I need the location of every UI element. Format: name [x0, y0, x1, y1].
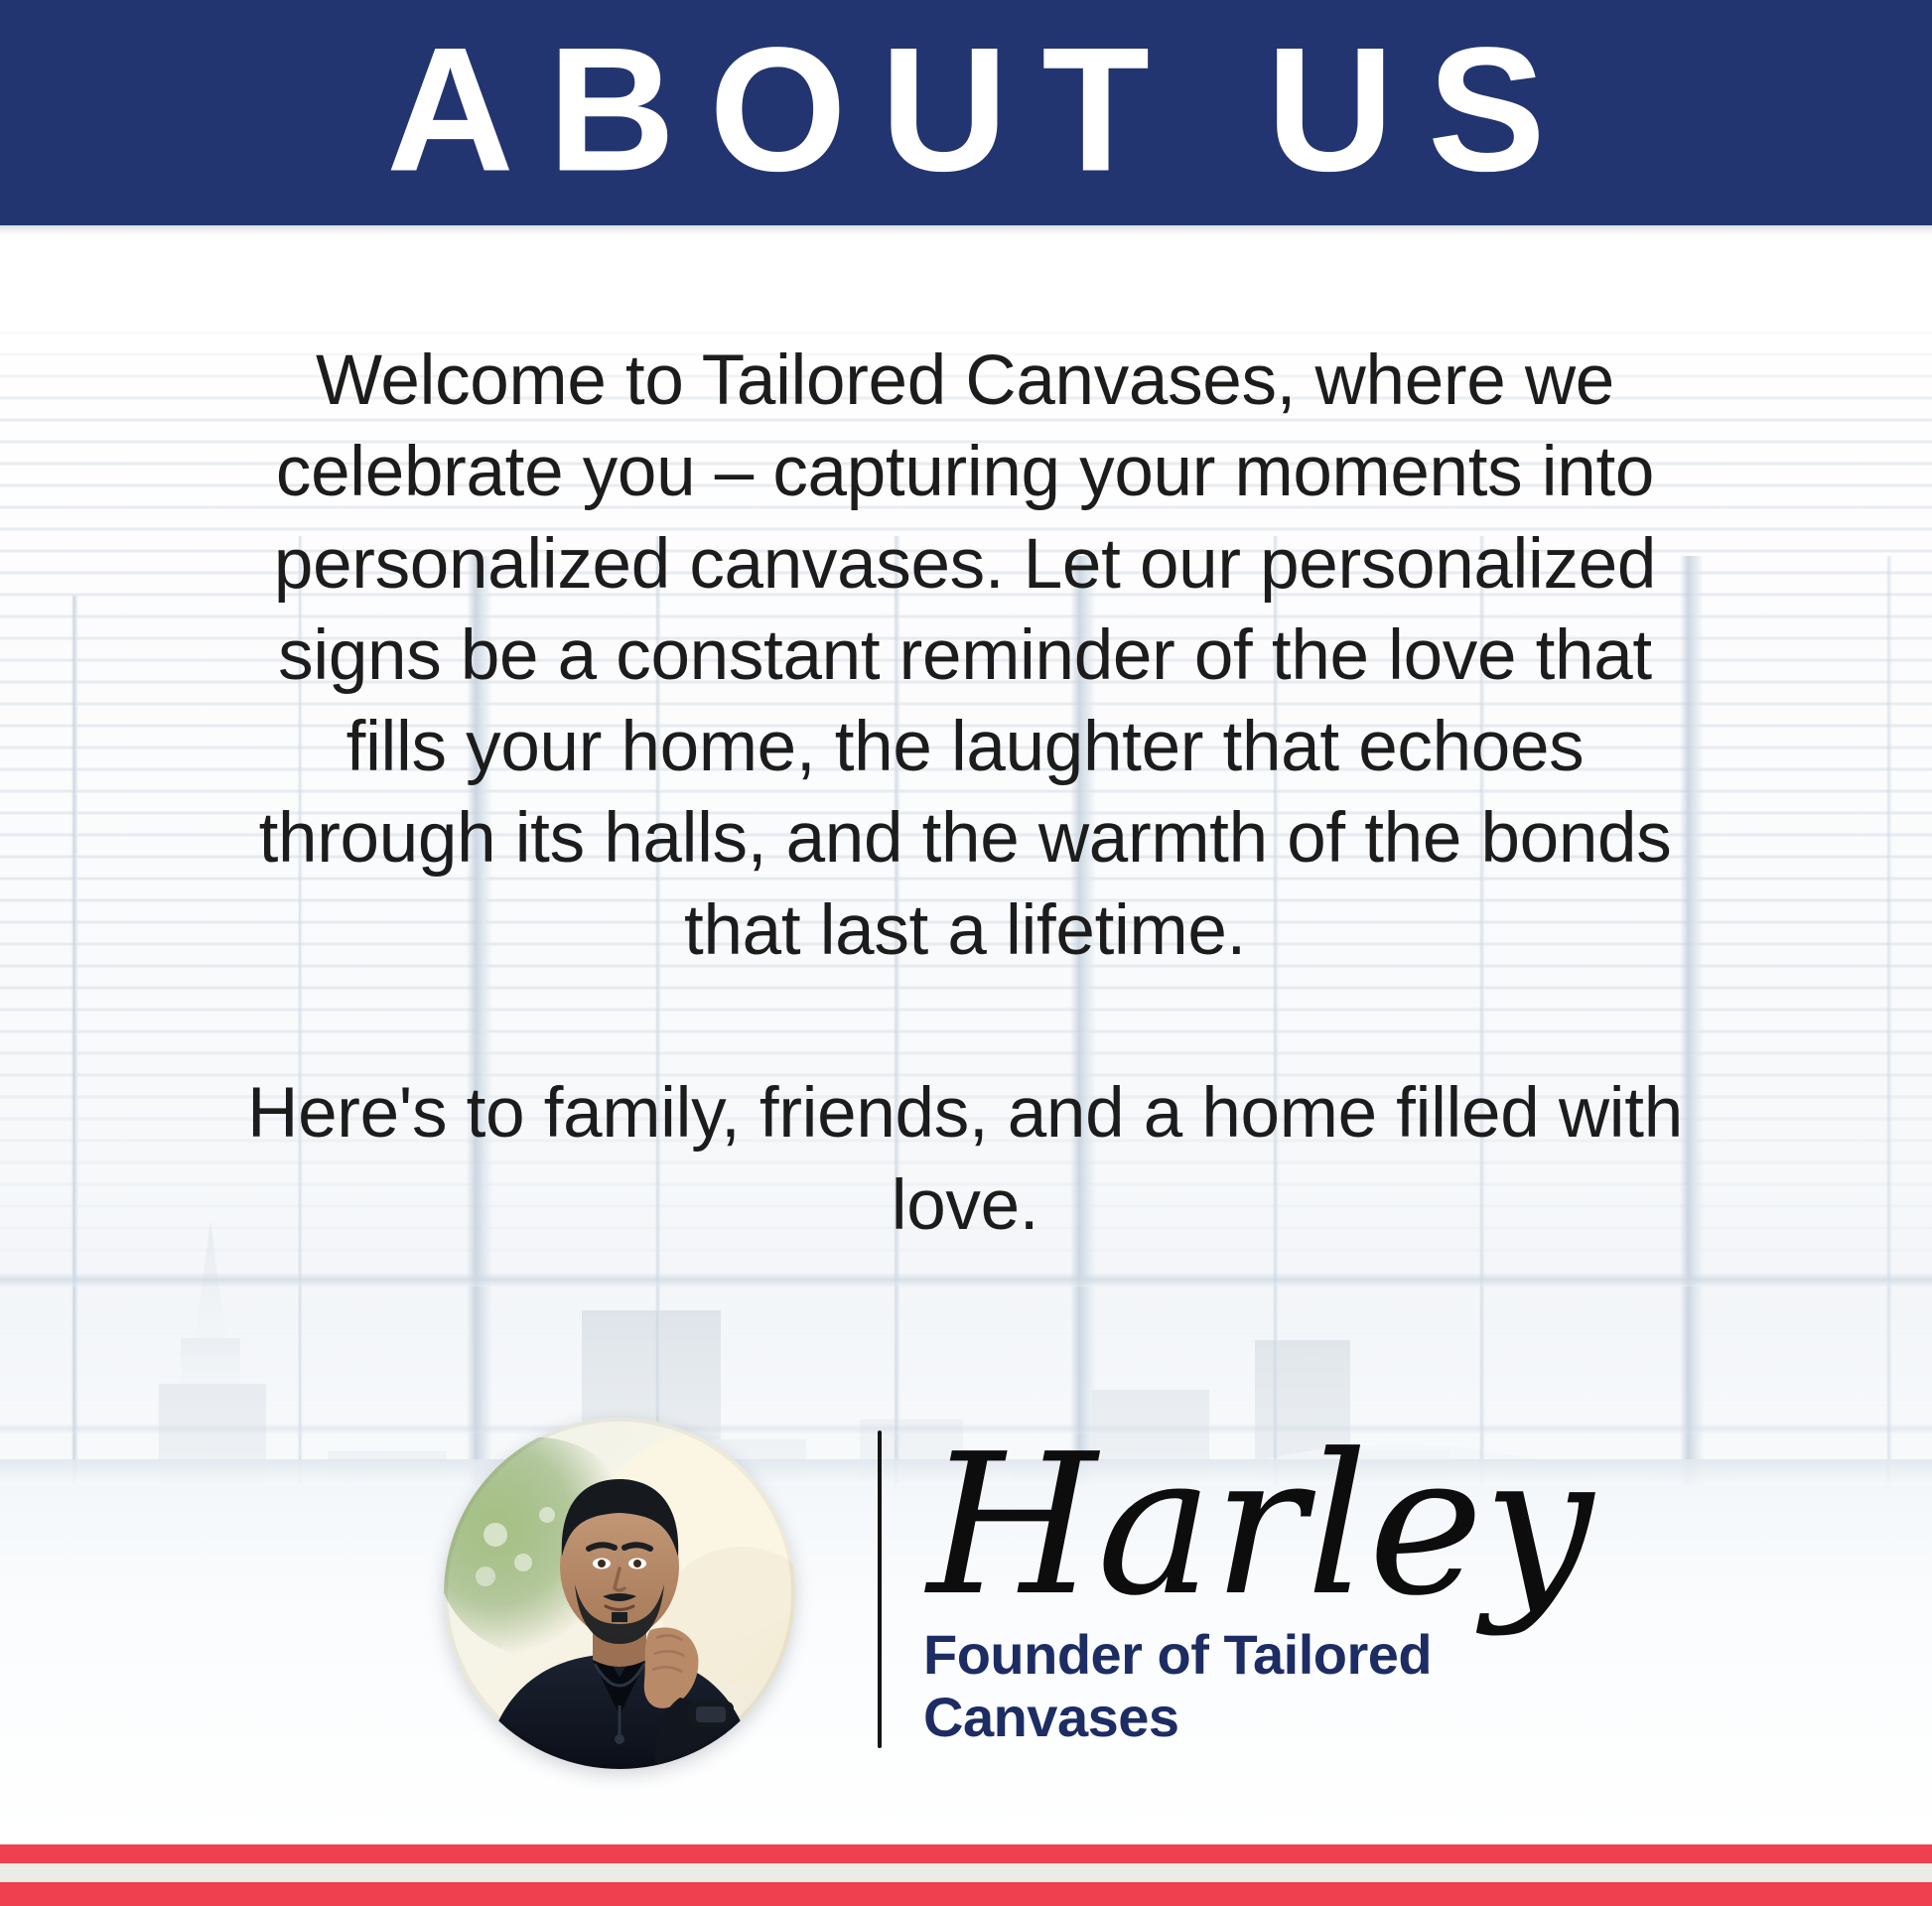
signature-text: Harley: [924, 1413, 1595, 1639]
header-banner: ABOUT US: [0, 0, 1932, 225]
paragraph-closing: Here's to family, friends, and a home fi…: [220, 1068, 1710, 1252]
page-title: ABOUT US: [0, 21, 1932, 198]
window-transom: [0, 1273, 1932, 1287]
founder-signature: Harley: [923, 1382, 1559, 1680]
founder-role-line-2: Canvases: [923, 1687, 1559, 1749]
footer-stripe-top: [0, 1844, 1932, 1863]
founder-avatar: [444, 1418, 795, 1769]
signature-divider-line: [878, 1430, 882, 1748]
footer-stripe-gap: [0, 1863, 1932, 1882]
footer-stripe-bottom: [0, 1882, 1932, 1906]
footer-stripes: [0, 1844, 1932, 1906]
paragraph-intro: Welcome to Tailored Canvases, where we c…: [220, 336, 1710, 977]
about-us-poster: ABOUT US Welcome to Tailored Canvases, w…: [0, 0, 1932, 1906]
header-underline-divider: [0, 225, 1932, 234]
about-us-body-text: Welcome to Tailored Canvases, where we c…: [220, 336, 1710, 1252]
